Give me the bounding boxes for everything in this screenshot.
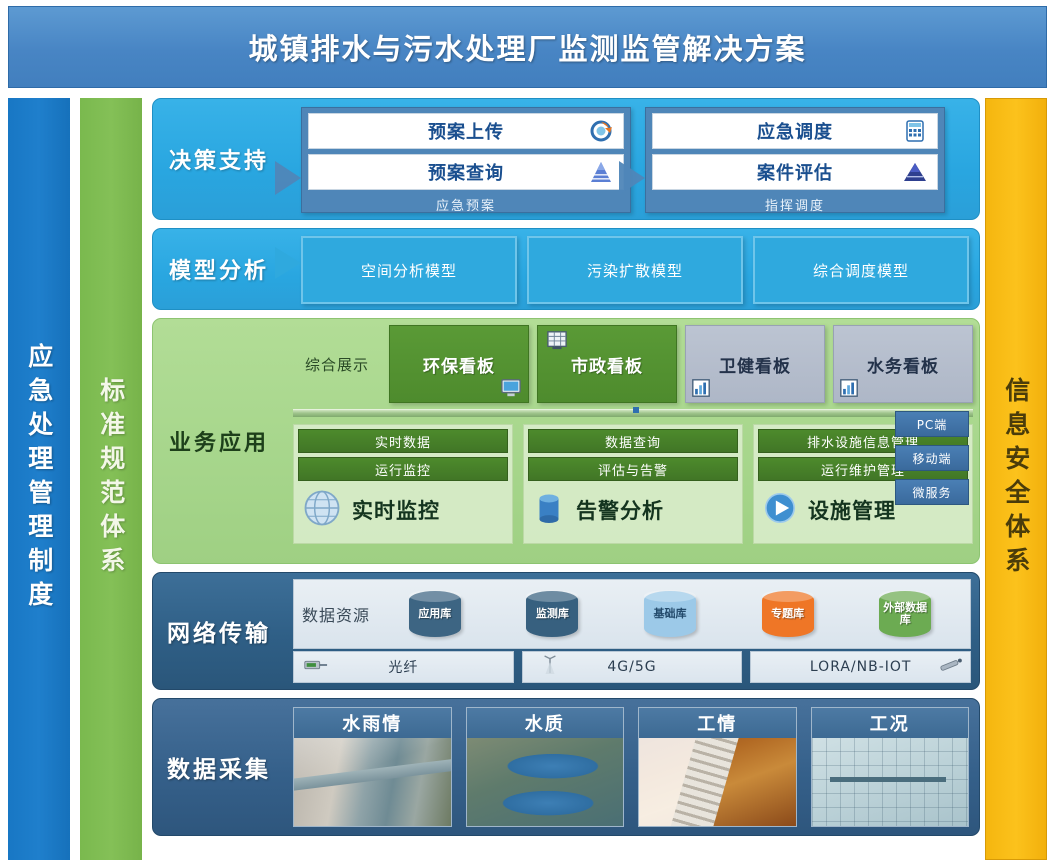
business-chip-realtime-data[interactable]: 实时数据 — [298, 429, 508, 453]
data-card-water-quality-title: 水质 — [467, 708, 624, 738]
layer-decision-support-label: 决策支持 — [153, 99, 285, 219]
board-environmental[interactable]: 环保看板 — [389, 325, 529, 403]
network-link-lora-label: LORA/NB-IOT — [810, 659, 912, 675]
pillar-information-security: 信息安全体系 — [985, 98, 1047, 860]
network-link-cellular-label: 4G/5G — [607, 659, 656, 675]
database-application[interactable]: 应用库 — [409, 591, 461, 637]
board-environmental-label: 环保看板 — [423, 352, 495, 377]
data-card-rainfall[interactable]: 水雨情 — [293, 707, 452, 827]
model-box-spatial-label: 空间分析模型 — [361, 260, 457, 281]
decision-item-plan-upload[interactable]: 预案上传 — [308, 113, 624, 149]
chart-doc-icon — [690, 378, 712, 398]
layer-decision-support: 决策支持 预案上传 预案查询 — [152, 98, 980, 220]
data-resource-panel: 数据资源 应用库 监测库 基础库 专题库 外部数据库 — [293, 579, 971, 649]
layer-data-collection-label: 数据采集 — [153, 699, 285, 835]
data-card-working-condition-thumbnail — [812, 738, 969, 826]
database-monitoring-label: 监测库 — [534, 608, 571, 620]
business-chip-realtime-data-label: 实时数据 — [375, 432, 431, 451]
business-chip-data-query-label: 数据查询 — [605, 432, 661, 451]
pyramid-dark-icon — [903, 160, 927, 184]
network-link-lora[interactable]: LORA/NB-IOT — [750, 651, 971, 683]
data-card-water-quality[interactable]: 水质 — [466, 707, 625, 827]
model-box-integrated-dispatch-label: 综合调度模型 — [813, 260, 909, 281]
database-thematic-label: 专题库 — [769, 608, 806, 620]
decision-item-case-evaluation[interactable]: 案件评估 — [652, 154, 938, 190]
window-grid-icon — [546, 330, 568, 350]
database-thematic[interactable]: 专题库 — [762, 591, 814, 637]
layer-business-application-label: 业务应用 — [153, 319, 285, 563]
data-card-engineering-label: 工情 — [697, 710, 737, 736]
board-health[interactable]: 卫健看板 — [685, 325, 825, 403]
play-circle-icon — [760, 488, 800, 532]
data-card-working-condition-title: 工况 — [812, 708, 969, 738]
layer-network-transmission-label: 网络传输 — [153, 573, 285, 689]
data-card-engineering-title: 工情 — [639, 708, 796, 738]
data-card-engineering[interactable]: 工情 — [638, 707, 797, 827]
data-resource-label: 数据资源 — [302, 602, 370, 626]
flow-arrow-right — [619, 161, 645, 195]
database-icon — [530, 487, 568, 533]
antenna-icon — [541, 655, 559, 679]
board-water-affairs[interactable]: 水务看板 — [833, 325, 973, 403]
business-column-alarm: 数据查询 评估与告警 — [523, 424, 743, 544]
layer-data-collection: 数据采集 水雨情 水质 工情 — [152, 698, 980, 836]
decision-item-emergency-dispatch[interactable]: 应急调度 — [652, 113, 938, 149]
network-link-cellular[interactable]: 4G/5G — [522, 651, 743, 683]
data-card-rainfall-label: 水雨情 — [342, 710, 402, 736]
decision-group-emergency-plan: 预案上传 预案查询 — [301, 107, 631, 213]
data-card-working-condition-label: 工况 — [870, 710, 910, 736]
business-chip-assessment-alarm-label: 评估与告警 — [598, 460, 668, 479]
endpoint-microservice-label: 微服务 — [912, 484, 951, 501]
business-feature-realtime-monitoring[interactable]: 实时监控 — [300, 483, 506, 537]
decision-item-case-evaluation-label: 案件评估 — [757, 159, 833, 185]
fiber-optic-icon — [302, 658, 328, 677]
pillar-middle-label: 标准规范体系 — [97, 377, 125, 581]
data-card-water-quality-thumbnail — [467, 738, 624, 826]
business-feature-realtime-monitoring-label: 实时监控 — [352, 495, 440, 525]
client-endpoint-list: PC端 移动端 微服务 — [895, 411, 969, 513]
business-feature-facility-management-label: 设施管理 — [808, 495, 896, 525]
decision-item-plan-query-label: 预案查询 — [428, 159, 504, 185]
pillar-left-label: 应急处理管理制度 — [25, 343, 53, 615]
pyramid-icon — [589, 160, 613, 184]
business-chip-assessment-alarm[interactable]: 评估与告警 — [528, 457, 738, 481]
model-box-spatial[interactable]: 空间分析模型 — [301, 236, 517, 304]
decision-item-plan-query[interactable]: 预案查询 — [308, 154, 624, 190]
data-card-rainfall-thumbnail — [294, 738, 451, 826]
decision-item-emergency-dispatch-label: 应急调度 — [757, 118, 833, 144]
monitor-icon — [500, 378, 522, 398]
data-card-water-quality-label: 水质 — [525, 710, 565, 736]
data-card-working-condition[interactable]: 工况 — [811, 707, 970, 827]
board-water-affairs-label: 水务看板 — [867, 352, 939, 377]
business-chip-operation-monitoring-label: 运行监控 — [375, 460, 431, 479]
board-municipal-label: 市政看板 — [571, 352, 643, 377]
globe-icon — [300, 486, 344, 534]
page-title: 城镇排水与污水处理厂监测监管解决方案 — [248, 26, 806, 68]
endpoint-mobile-label: 移动端 — [912, 450, 951, 467]
data-card-engineering-thumbnail — [639, 738, 796, 826]
database-basic-label: 基础库 — [652, 608, 689, 620]
business-feature-alarm-analysis-label: 告警分析 — [576, 495, 664, 525]
pillar-emergency-management: 应急处理管理制度 — [8, 98, 70, 860]
database-application-label: 应用库 — [416, 608, 453, 620]
model-box-pollution-diffusion[interactable]: 污染扩散模型 — [527, 236, 743, 304]
decision-group-emergency-plan-caption: 应急预案 — [308, 195, 624, 214]
chart-doc-icon — [838, 378, 860, 398]
board-municipal[interactable]: 市政看板 — [537, 325, 677, 403]
layer-model-analysis-label: 模型分析 — [153, 229, 285, 309]
database-external[interactable]: 外部数据库 — [879, 591, 931, 637]
sensor-icon — [938, 657, 964, 677]
endpoint-pc-label: PC端 — [917, 416, 948, 433]
data-card-rainfall-title: 水雨情 — [294, 708, 451, 738]
database-basic[interactable]: 基础库 — [644, 591, 696, 637]
layer-stack: 决策支持 预案上传 预案查询 — [152, 98, 980, 860]
board-health-label: 卫健看板 — [719, 352, 791, 377]
comprehensive-display-label: 综合展示 — [293, 325, 381, 403]
layer-model-analysis: 模型分析 空间分析模型 污染扩散模型 综合调度模型 — [152, 228, 980, 310]
decision-group-command-dispatch: 应急调度 案件评估 — [645, 107, 945, 213]
decision-group-command-dispatch-caption: 指挥调度 — [652, 195, 938, 214]
endpoint-microservice[interactable]: 微服务 — [895, 479, 969, 505]
network-link-fiber-label: 光纤 — [388, 657, 418, 677]
business-column-monitoring: 实时数据 运行监控 — [293, 424, 513, 544]
refresh-cycle-icon — [589, 119, 613, 143]
divider-marker — [633, 407, 639, 413]
decision-item-plan-upload-label: 预案上传 — [428, 118, 504, 144]
network-link-row: 光纤 4G/5G LORA/NB-IOT — [293, 651, 971, 683]
endpoint-pc[interactable]: PC端 — [895, 411, 969, 437]
endpoint-mobile[interactable]: 移动端 — [895, 445, 969, 471]
network-link-fiber[interactable]: 光纤 — [293, 651, 514, 683]
diagram-canvas: 城镇排水与污水处理厂监测监管解决方案 应急处理管理制度 标准规范体系 信息安全体… — [0, 0, 1055, 868]
database-monitoring[interactable]: 监测库 — [526, 591, 578, 637]
diagram-header: 城镇排水与污水处理厂监测监管解决方案 — [8, 6, 1047, 88]
pillar-standards-system: 标准规范体系 — [80, 98, 142, 860]
business-divider — [293, 409, 973, 417]
layer-network-transmission: 网络传输 数据资源 应用库 监测库 基础库 专题库 外部数据库 — [152, 572, 980, 690]
pillar-right-label: 信息安全体系 — [1002, 377, 1030, 581]
layer-business-application: 业务应用 综合展示 环保看板 — [152, 318, 980, 564]
business-feature-alarm-analysis[interactable]: 告警分析 — [530, 483, 736, 537]
model-box-integrated-dispatch[interactable]: 综合调度模型 — [753, 236, 969, 304]
business-chip-maintenance-management-label: 运行维护管理 — [821, 460, 905, 479]
calculator-icon — [903, 119, 927, 143]
business-chip-data-query[interactable]: 数据查询 — [528, 429, 738, 453]
model-box-pollution-diffusion-label: 污染扩散模型 — [587, 260, 683, 281]
business-chip-operation-monitoring[interactable]: 运行监控 — [298, 457, 508, 481]
database-external-label: 外部数据库 — [879, 602, 931, 626]
dashboard-board-row: 综合展示 环保看板 市政看板 — [293, 325, 973, 403]
